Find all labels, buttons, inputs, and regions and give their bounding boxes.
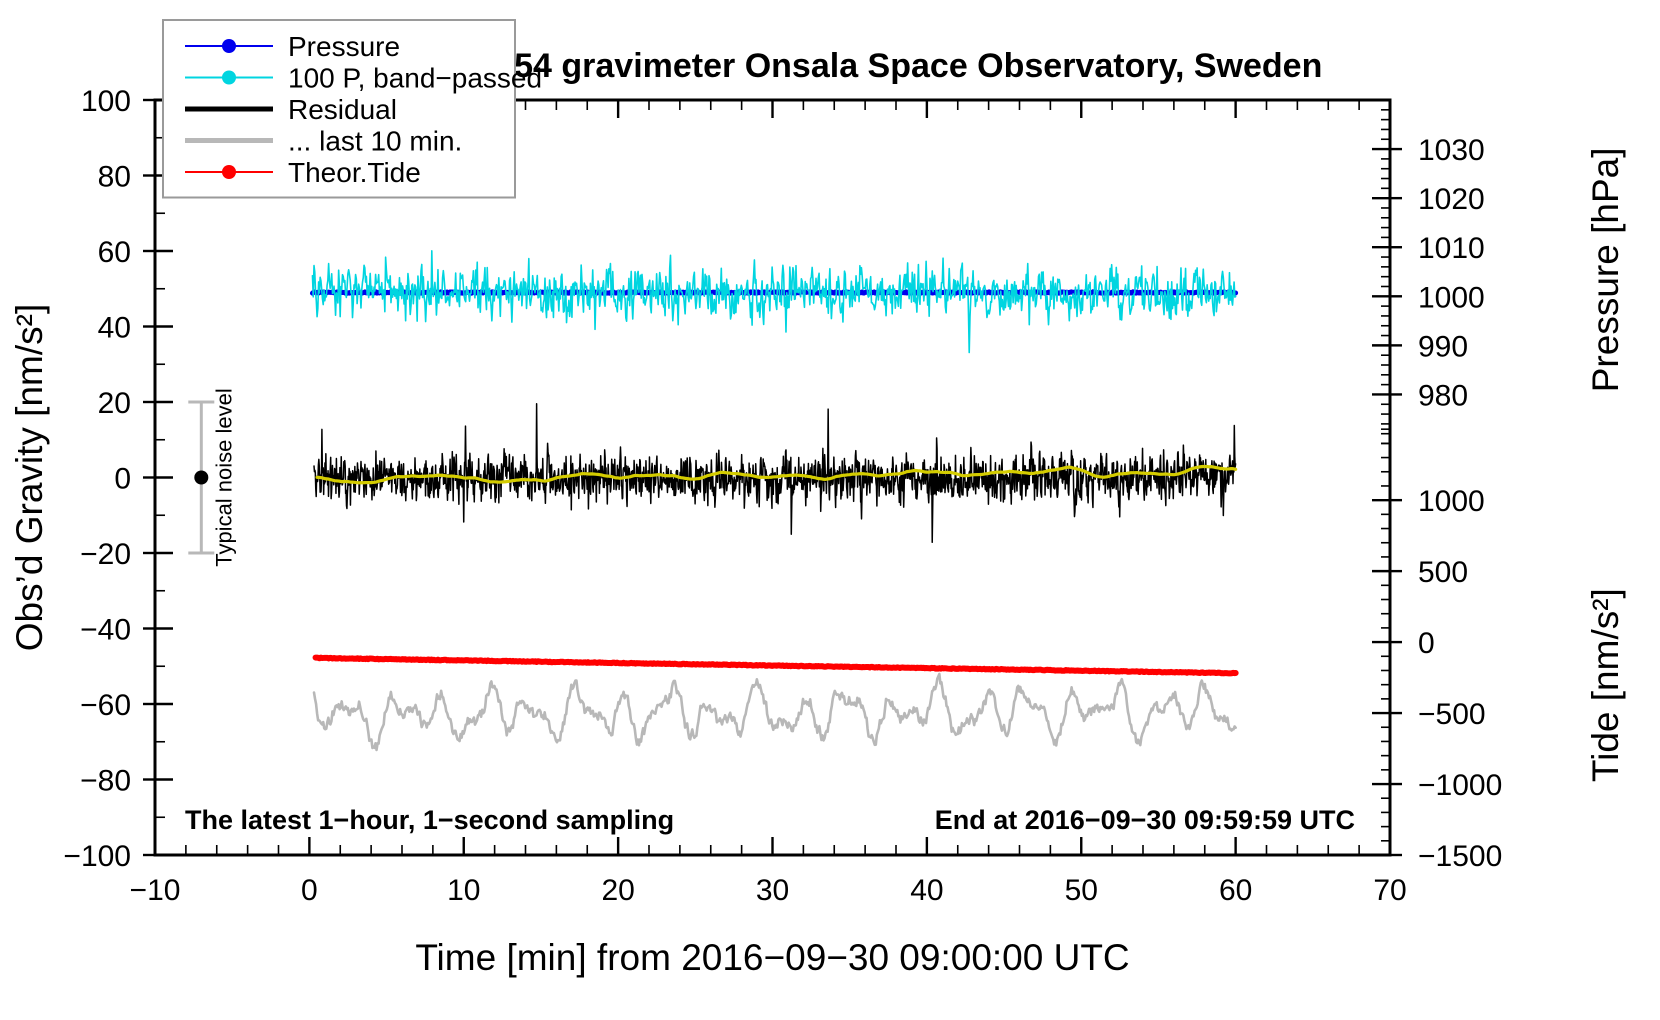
- x-tick-label: 20: [601, 874, 634, 907]
- legend[interactable]: Pressure100 P, band−passedResidual... la…: [163, 20, 542, 198]
- y-tick-label: −80: [80, 765, 131, 798]
- series-1: [312, 251, 1235, 353]
- y-tick-label: −60: [80, 689, 131, 722]
- pressure-tick-label: 990: [1418, 330, 1468, 363]
- y-tick-label: −40: [80, 614, 131, 647]
- gravimeter-plot-figure: −10010203040506070 −100−80−60−40−2002040…: [0, 0, 1660, 1020]
- typical-noise-level-annotation: Typical noise level: [188, 388, 236, 567]
- series-2: [314, 404, 1236, 543]
- y-tick-label: 80: [98, 161, 131, 194]
- x-tick-label: 50: [1065, 874, 1098, 907]
- y-tick-label: 20: [98, 387, 131, 420]
- tide-tick-label: −500: [1418, 698, 1486, 731]
- plot-canvas: −10010203040506070 −100−80−60−40−2002040…: [0, 0, 1660, 1020]
- tide-tick-label: 0: [1418, 627, 1435, 660]
- x-axis: −10010203040506070: [130, 100, 1407, 907]
- y-axis-title: Obs’d Gravity [nm/s²]: [9, 304, 50, 651]
- y-tick-label: −100: [63, 840, 131, 873]
- pressure-axis-title: Pressure [hPa]: [1585, 148, 1626, 393]
- footer-left-note: The latest 1−hour, 1−second sampling: [185, 805, 674, 835]
- legend-marker-4[interactable]: [222, 165, 236, 179]
- y-tick-label: 100: [81, 85, 131, 118]
- x-tick-label: −10: [130, 874, 181, 907]
- x-tick-label: 10: [447, 874, 480, 907]
- noise-level-label: Typical noise level: [211, 388, 236, 567]
- y-tick-label: 40: [98, 312, 131, 345]
- pressure-tick-label: 1000: [1418, 281, 1485, 314]
- legend-label-3[interactable]: ... last 10 min.: [288, 126, 462, 157]
- legend-marker-0[interactable]: [222, 39, 236, 53]
- x-axis-title: Time [min] from 2016−09−30 09:00:00 UTC: [415, 937, 1129, 978]
- pressure-tick-label: 1010: [1418, 232, 1485, 265]
- x-tick-label: 30: [756, 874, 789, 907]
- legend-marker-1[interactable]: [222, 71, 236, 85]
- footer-right-note: End at 2016−09−30 09:59:59 UTC: [935, 805, 1355, 835]
- x-tick-label: 60: [1219, 874, 1252, 907]
- legend-label-0[interactable]: Pressure: [288, 31, 400, 62]
- tide-axis-title: Tide [nm/s²]: [1585, 588, 1626, 782]
- series-4: [314, 674, 1236, 750]
- tide-tick-label: −1000: [1418, 769, 1502, 802]
- legend-label-1[interactable]: 100 P, band−passed: [288, 63, 542, 94]
- y-tick-label: −20: [80, 538, 131, 571]
- y-axis-tide: −1500−1000−50005001000: [1372, 429, 1502, 873]
- x-tick-label: 0: [301, 874, 318, 907]
- tide-tick-label: −1500: [1418, 840, 1502, 873]
- pressure-tick-label: 1020: [1418, 183, 1485, 216]
- footer-annotations: The latest 1−hour, 1−second samplingEnd …: [185, 805, 1355, 835]
- noise-center-dot: [194, 471, 208, 485]
- pressure-tick-label: 1030: [1418, 134, 1485, 167]
- legend-label-2[interactable]: Residual: [288, 94, 397, 125]
- x-tick-label: 40: [910, 874, 943, 907]
- data-traces: [312, 251, 1235, 750]
- pressure-tick-label: 980: [1418, 379, 1468, 412]
- legend-label-4[interactable]: Theor.Tide: [288, 157, 421, 188]
- y-tick-label: 60: [98, 236, 131, 269]
- tide-tick-label: 500: [1418, 556, 1468, 589]
- tide-tick-label: 1000: [1418, 485, 1485, 518]
- y-axis-gravity: −100−80−60−40−20020406080100: [63, 85, 173, 873]
- series-5: [316, 658, 1236, 674]
- y-tick-label: 0: [114, 463, 131, 496]
- x-tick-label: 70: [1373, 874, 1406, 907]
